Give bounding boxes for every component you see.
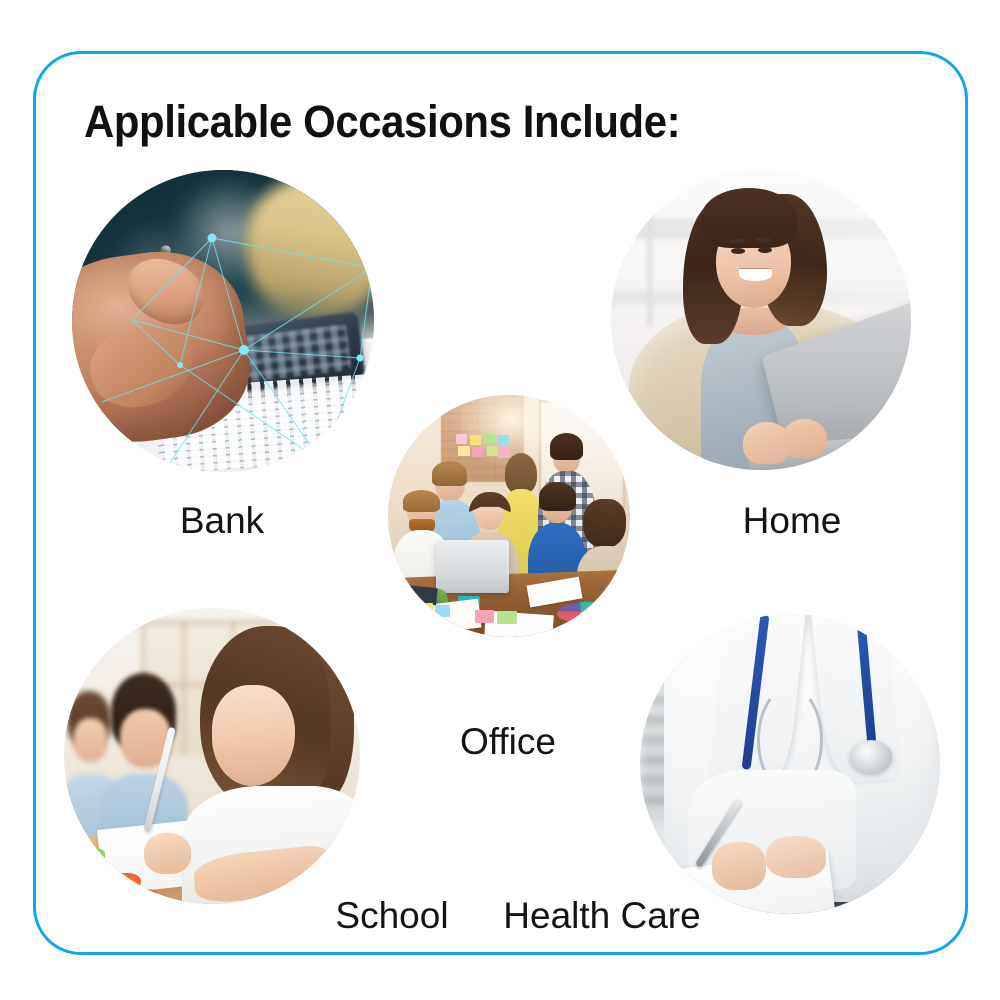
poster-canvas: Applicable Occasions Include: (0, 0, 1000, 1000)
foam-letter (82, 848, 106, 863)
health-care-photo (640, 614, 940, 914)
occasion-circle-health-care (640, 614, 940, 914)
foam-letter (88, 866, 115, 881)
foam-letter (126, 889, 159, 904)
occasion-circle-school (64, 608, 360, 904)
occasion-circle-office (388, 395, 630, 637)
foam-letter (114, 873, 141, 889)
occasion-circle-bank (72, 170, 374, 472)
home-photo (611, 170, 911, 470)
occasion-label-health-care: Health Care (492, 895, 712, 937)
sticky-notes-cluster (456, 434, 509, 458)
office-photo (388, 395, 630, 637)
page-title: Applicable Occasions Include: (84, 96, 680, 148)
network-overlay-icon (72, 170, 374, 472)
occasion-label-office: Office (408, 721, 608, 763)
bank-photo (72, 170, 374, 472)
school-photo (64, 608, 360, 904)
occasion-circle-home (611, 170, 911, 470)
occasion-label-bank: Bank (122, 500, 322, 542)
occasion-label-home: Home (692, 500, 892, 542)
occasion-label-school: School (292, 895, 492, 937)
